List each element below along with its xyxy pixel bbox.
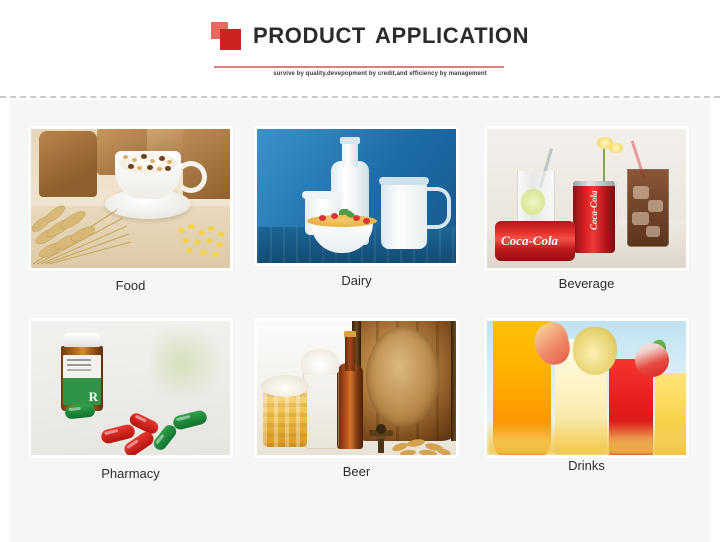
beverage-image: Coca-Cola Coca-Cola bbox=[487, 129, 686, 268]
thumbnail-frame bbox=[254, 126, 459, 266]
drinks-image bbox=[487, 321, 686, 455]
two-red-squares-logo-icon bbox=[211, 21, 245, 51]
pineapple-garnish bbox=[573, 327, 617, 375]
background-blur bbox=[154, 329, 224, 403]
beer-image bbox=[257, 321, 456, 455]
product-card-beer[interactable]: Beer bbox=[254, 318, 459, 458]
thumbnail-frame bbox=[484, 318, 689, 458]
watermelon-garnish bbox=[635, 343, 669, 377]
berry bbox=[319, 215, 326, 221]
card-label-beer: Beer bbox=[254, 464, 459, 479]
beer-foam bbox=[261, 375, 309, 397]
food-image bbox=[31, 129, 230, 268]
cereal-flake bbox=[150, 159, 155, 163]
green-capsule bbox=[172, 409, 208, 431]
can-top bbox=[573, 181, 615, 186]
product-grid: Food bbox=[10, 100, 710, 542]
cereal-raisin bbox=[159, 156, 165, 161]
coca-cola-can-upright: Coca-Cola bbox=[573, 181, 615, 253]
logo-square-dark bbox=[220, 29, 241, 50]
cereal-flake bbox=[137, 166, 142, 170]
barrel-head bbox=[366, 327, 440, 427]
coca-cola-logo-text: Coca-Cola bbox=[501, 233, 558, 249]
thumbnail-frame: R bbox=[28, 318, 233, 458]
beer-foam bbox=[301, 349, 339, 375]
beer-mug bbox=[263, 385, 307, 447]
thumbnail-frame bbox=[28, 126, 233, 271]
card-label-dairy: Dairy bbox=[254, 273, 459, 288]
cereal-flake bbox=[167, 160, 172, 164]
pilsner-glass bbox=[303, 361, 337, 447]
product-card-drinks[interactable]: Drinks bbox=[484, 318, 689, 458]
dairy-image bbox=[257, 129, 456, 263]
berry bbox=[331, 213, 338, 219]
bottle-body bbox=[337, 363, 363, 449]
product-card-pharmacy[interactable]: R Pharmacy bbox=[28, 318, 233, 458]
thumbnail-frame bbox=[254, 318, 459, 458]
slide-canvas: PRODUCTAPPLICATION survive by quality,de… bbox=[0, 0, 720, 542]
title-subtitle: survive by quality,devepopment by credit… bbox=[255, 71, 505, 77]
bottle-cap bbox=[64, 333, 100, 347]
berry bbox=[363, 218, 370, 224]
cereal-raisin bbox=[141, 154, 147, 159]
content-panel: Food bbox=[10, 100, 710, 542]
card-label-food: Food bbox=[28, 278, 233, 293]
slide-header: PRODUCTAPPLICATION survive by quality,de… bbox=[0, 0, 720, 97]
wheat-grain bbox=[392, 429, 452, 455]
title-secondary: APPLICATION bbox=[375, 23, 529, 48]
milk-jug bbox=[381, 181, 427, 249]
mug-body bbox=[263, 389, 307, 447]
medicine-bottle: R bbox=[61, 333, 103, 411]
bottle-cap bbox=[344, 331, 356, 337]
title-primary: PRODUCT bbox=[253, 23, 366, 48]
product-card-food[interactable]: Food bbox=[28, 126, 233, 271]
thumbnail-frame: Coca-Cola Coca-Cola bbox=[484, 126, 689, 271]
title-underline-rule bbox=[214, 66, 504, 68]
cereal-flake bbox=[123, 155, 128, 159]
card-label-beverage: Beverage bbox=[484, 276, 689, 291]
cereal-raisin bbox=[128, 164, 134, 169]
green-capsule bbox=[64, 403, 95, 419]
title-block: PRODUCTAPPLICATION survive by quality,de… bbox=[211, 19, 511, 53]
header-divider bbox=[0, 96, 720, 98]
flower bbox=[609, 143, 623, 153]
foreground-blur bbox=[487, 421, 686, 455]
pharmacy-image: R bbox=[31, 321, 230, 455]
cereal-raisin bbox=[165, 166, 171, 171]
cereal-flake bbox=[157, 167, 162, 171]
jug-rim bbox=[379, 177, 429, 185]
title-row: PRODUCTAPPLICATION bbox=[211, 19, 511, 53]
berry bbox=[353, 215, 360, 221]
cereal-raisin bbox=[147, 165, 153, 170]
product-card-beverage[interactable]: Coca-Cola Coca-Cola Beverage bbox=[484, 126, 689, 271]
bottle-neck bbox=[345, 331, 355, 371]
bottle-cap bbox=[340, 137, 360, 144]
bottle-label: R bbox=[63, 355, 101, 405]
wheat-stalks bbox=[31, 174, 139, 266]
product-card-dairy[interactable]: Dairy bbox=[254, 126, 459, 266]
glass-body bbox=[303, 367, 339, 449]
coca-cola-logo-text: Coca-Cola bbox=[589, 194, 599, 230]
beer-bottle bbox=[337, 331, 363, 449]
card-label-drinks: Drinks bbox=[484, 458, 689, 473]
cereal-flake bbox=[132, 158, 137, 162]
cola-glass bbox=[627, 169, 669, 247]
page-title: PRODUCTAPPLICATION bbox=[253, 25, 529, 47]
coca-cola-can-lying: Coca-Cola bbox=[495, 221, 575, 261]
corn-kernels bbox=[172, 220, 228, 264]
card-label-pharmacy: Pharmacy bbox=[28, 466, 233, 481]
rx-symbol: R bbox=[89, 390, 98, 403]
flower-stem bbox=[603, 145, 605, 185]
cup-rim bbox=[302, 191, 344, 199]
